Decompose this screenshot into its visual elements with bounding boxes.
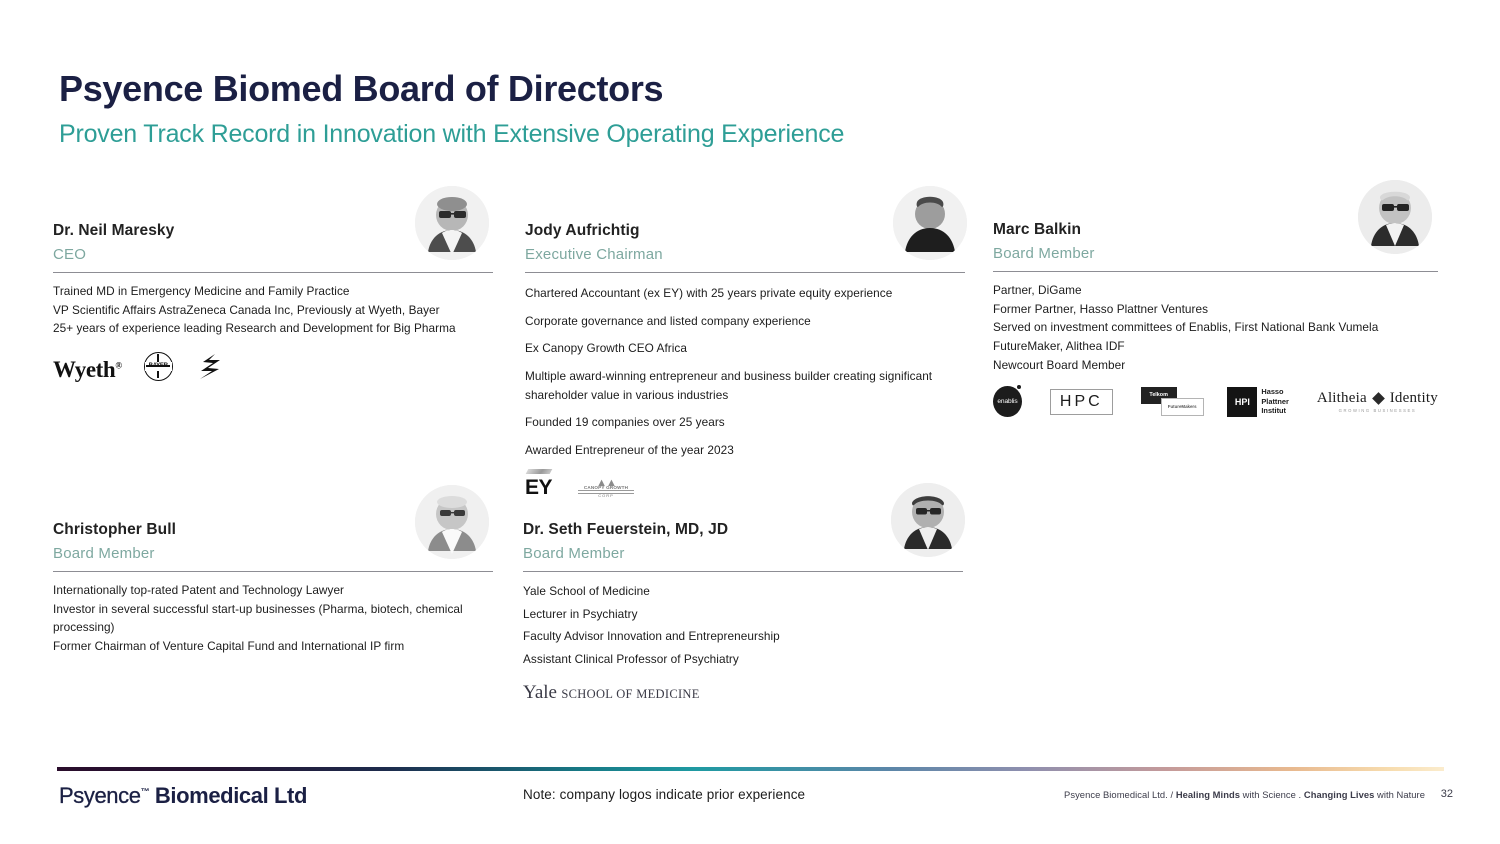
registered-mark: ® xyxy=(115,360,121,370)
avatar-neil-maresky xyxy=(415,186,489,260)
bullet-item: Partner, DiGame xyxy=(993,281,1438,300)
wyeth-logo-text: Wyeth xyxy=(53,357,115,382)
avatar-seth-feuerstein xyxy=(891,483,965,557)
alitheia-wordmark: Alitheia Identity xyxy=(1317,390,1438,407)
hpc-logo: HPC xyxy=(1050,389,1113,415)
bullet-item: 25+ years of experience leading Research… xyxy=(53,319,493,338)
divider xyxy=(993,271,1438,272)
prior-experience-logos: Yale SCHOOL OF MEDICINE xyxy=(523,683,963,702)
person-role: Executive Chairman xyxy=(525,246,965,263)
bullet-item: Multiple award-winning entrepreneur and … xyxy=(525,367,965,404)
hpi-line-1: Hasso xyxy=(1261,387,1289,396)
divider xyxy=(523,571,963,572)
futuremakers-logo-text: FutureMakers xyxy=(1161,398,1204,416)
canopy-growth-logo: ▲▲ CANOPY GROWTH CORP xyxy=(578,478,634,499)
yale-wordmark: Yale xyxy=(523,682,557,703)
divider xyxy=(53,571,493,572)
enablis-logo: enablis xyxy=(993,386,1022,417)
page-number: 32 xyxy=(1441,788,1453,800)
hpc-logo-text: HPC xyxy=(1060,393,1103,410)
avatar-christopher-bull xyxy=(415,485,489,559)
person-bullets: Chartered Accountant (ex EY) with 25 yea… xyxy=(525,284,965,459)
person-card-jody-aufrichtig: Jody Aufrichtig Executive Chairman Chart… xyxy=(525,222,965,498)
bullet-item: Chartered Accountant (ex EY) with 25 yea… xyxy=(525,284,965,303)
avatar-marc-balkin xyxy=(1358,180,1432,254)
enablis-logo-text: enablis xyxy=(997,398,1017,405)
hasso-plattner-institut-logo: HPI Hasso Plattner Institut xyxy=(1227,387,1289,417)
legal-mid: with Science . xyxy=(1240,789,1304,800)
person-bullets: Yale School of Medicine Lecturer in Psyc… xyxy=(523,582,963,669)
alitheia-tagline: GROWING BUSINESSES xyxy=(1317,409,1438,414)
bullet-item: Trained MD in Emergency Medicine and Fam… xyxy=(53,282,493,301)
person-card-marc-balkin: Marc Balkin Board Member Partner, DiGame… xyxy=(993,221,1438,417)
footer-legal: Psyence Biomedical Ltd. / Healing Minds … xyxy=(1064,789,1425,800)
person-role: Board Member xyxy=(523,545,963,562)
bullet-item: Awarded Entrepreneur of the year 2023 xyxy=(525,441,965,460)
bullet-item: VP Scientific Affairs AstraZeneca Canada… xyxy=(53,301,493,320)
bayer-logo: BAYER xyxy=(144,352,173,381)
bullet-item: FutureMaker, Alithea IDF xyxy=(993,337,1438,356)
bayer-logo-text: BAYER xyxy=(145,362,172,371)
person-bullets: Trained MD in Emergency Medicine and Fam… xyxy=(53,282,493,338)
bullet-item: Internationally top-rated Patent and Tec… xyxy=(53,581,493,600)
hpi-line-3: Institut xyxy=(1261,406,1289,415)
hpi-mark: HPI xyxy=(1227,387,1257,417)
bullet-item: Corporate governance and listed company … xyxy=(525,312,965,331)
brand-logo-thin: Psyence xyxy=(59,783,141,808)
brand-logo: Psyence™ Biomedical Ltd xyxy=(59,783,307,809)
alitheia-identity-logo: Alitheia Identity GROWING BUSINESSES xyxy=(1317,390,1438,413)
prior-experience-logos: Wyeth® BAYER xyxy=(53,351,493,381)
alitheia-right-text: Identity xyxy=(1390,390,1438,406)
diamond-icon xyxy=(1372,392,1385,405)
bullet-item: Investor in several successful start-up … xyxy=(53,600,493,637)
person-bullets: Partner, DiGame Former Partner, Hasso Pl… xyxy=(993,281,1438,374)
legal-bold-changing-lives: Changing Lives xyxy=(1304,789,1375,800)
person-role: Board Member xyxy=(993,245,1438,262)
wyeth-logo: Wyeth® xyxy=(53,358,122,381)
bullet-item: Yale School of Medicine xyxy=(523,582,963,601)
canopy-logo-sub: CORP xyxy=(578,494,634,498)
bullet-item: Newcourt Board Member xyxy=(993,356,1438,375)
bullet-item: Ex Canopy Growth CEO Africa xyxy=(525,339,965,358)
telkom-futuremakers-logo: Telkom FutureMakers xyxy=(1141,387,1200,417)
legal-suffix: with Nature xyxy=(1374,789,1425,800)
footer-gradient-rule xyxy=(57,767,1444,771)
bullet-item: Founded 19 companies over 25 years xyxy=(525,413,965,432)
legal-bold-healing-minds: Healing Minds xyxy=(1176,789,1240,800)
bullet-item: Former Chairman of Venture Capital Fund … xyxy=(53,637,493,656)
divider xyxy=(53,272,493,273)
bullet-item: Assistant Clinical Professor of Psychiat… xyxy=(523,650,963,669)
hpi-line-2: Plattner xyxy=(1261,397,1289,406)
legal-prefix: Psyence Biomedical Ltd. / xyxy=(1064,789,1176,800)
canopy-logo-text: CANOPY GROWTH xyxy=(578,486,634,491)
ey-logo-text: EY xyxy=(525,476,552,499)
ey-logo: EY xyxy=(525,468,552,498)
alitheia-left-text: Alitheia xyxy=(1317,390,1367,406)
trademark-mark: ™ xyxy=(141,787,150,797)
avatar-jody-aufrichtig xyxy=(893,186,967,260)
yale-sub-wordmark: SCHOOL OF MEDICINE xyxy=(561,687,699,701)
person-card-seth-feuerstein: Dr. Seth Feuerstein, MD, JD Board Member… xyxy=(523,521,963,702)
footer-note: Note: company logos indicate prior exper… xyxy=(523,787,805,802)
page-subtitle: Proven Track Record in Innovation with E… xyxy=(59,120,844,149)
bullet-item: Lecturer in Psychiatry xyxy=(523,605,963,624)
bullet-item: Served on investment committees of Enabl… xyxy=(993,318,1438,337)
astrazeneca-logo xyxy=(195,351,225,381)
page-title: Psyence Biomed Board of Directors xyxy=(59,68,663,110)
divider xyxy=(525,272,965,273)
prior-experience-logos: EY ▲▲ CANOPY GROWTH CORP xyxy=(525,468,965,498)
brand-logo-bold: Biomedical Ltd xyxy=(155,783,307,808)
prior-experience-logos: enablis HPC Telkom FutureMakers HPI Hass… xyxy=(993,386,1438,417)
yale-school-of-medicine-logo: Yale SCHOOL OF MEDICINE xyxy=(523,683,700,702)
person-bullets: Internationally top-rated Patent and Tec… xyxy=(53,581,493,656)
bullet-item: Faculty Advisor Innovation and Entrepren… xyxy=(523,627,963,646)
bullet-item: Former Partner, Hasso Plattner Ventures xyxy=(993,300,1438,319)
hpi-wordmark: Hasso Plattner Institut xyxy=(1261,387,1289,415)
